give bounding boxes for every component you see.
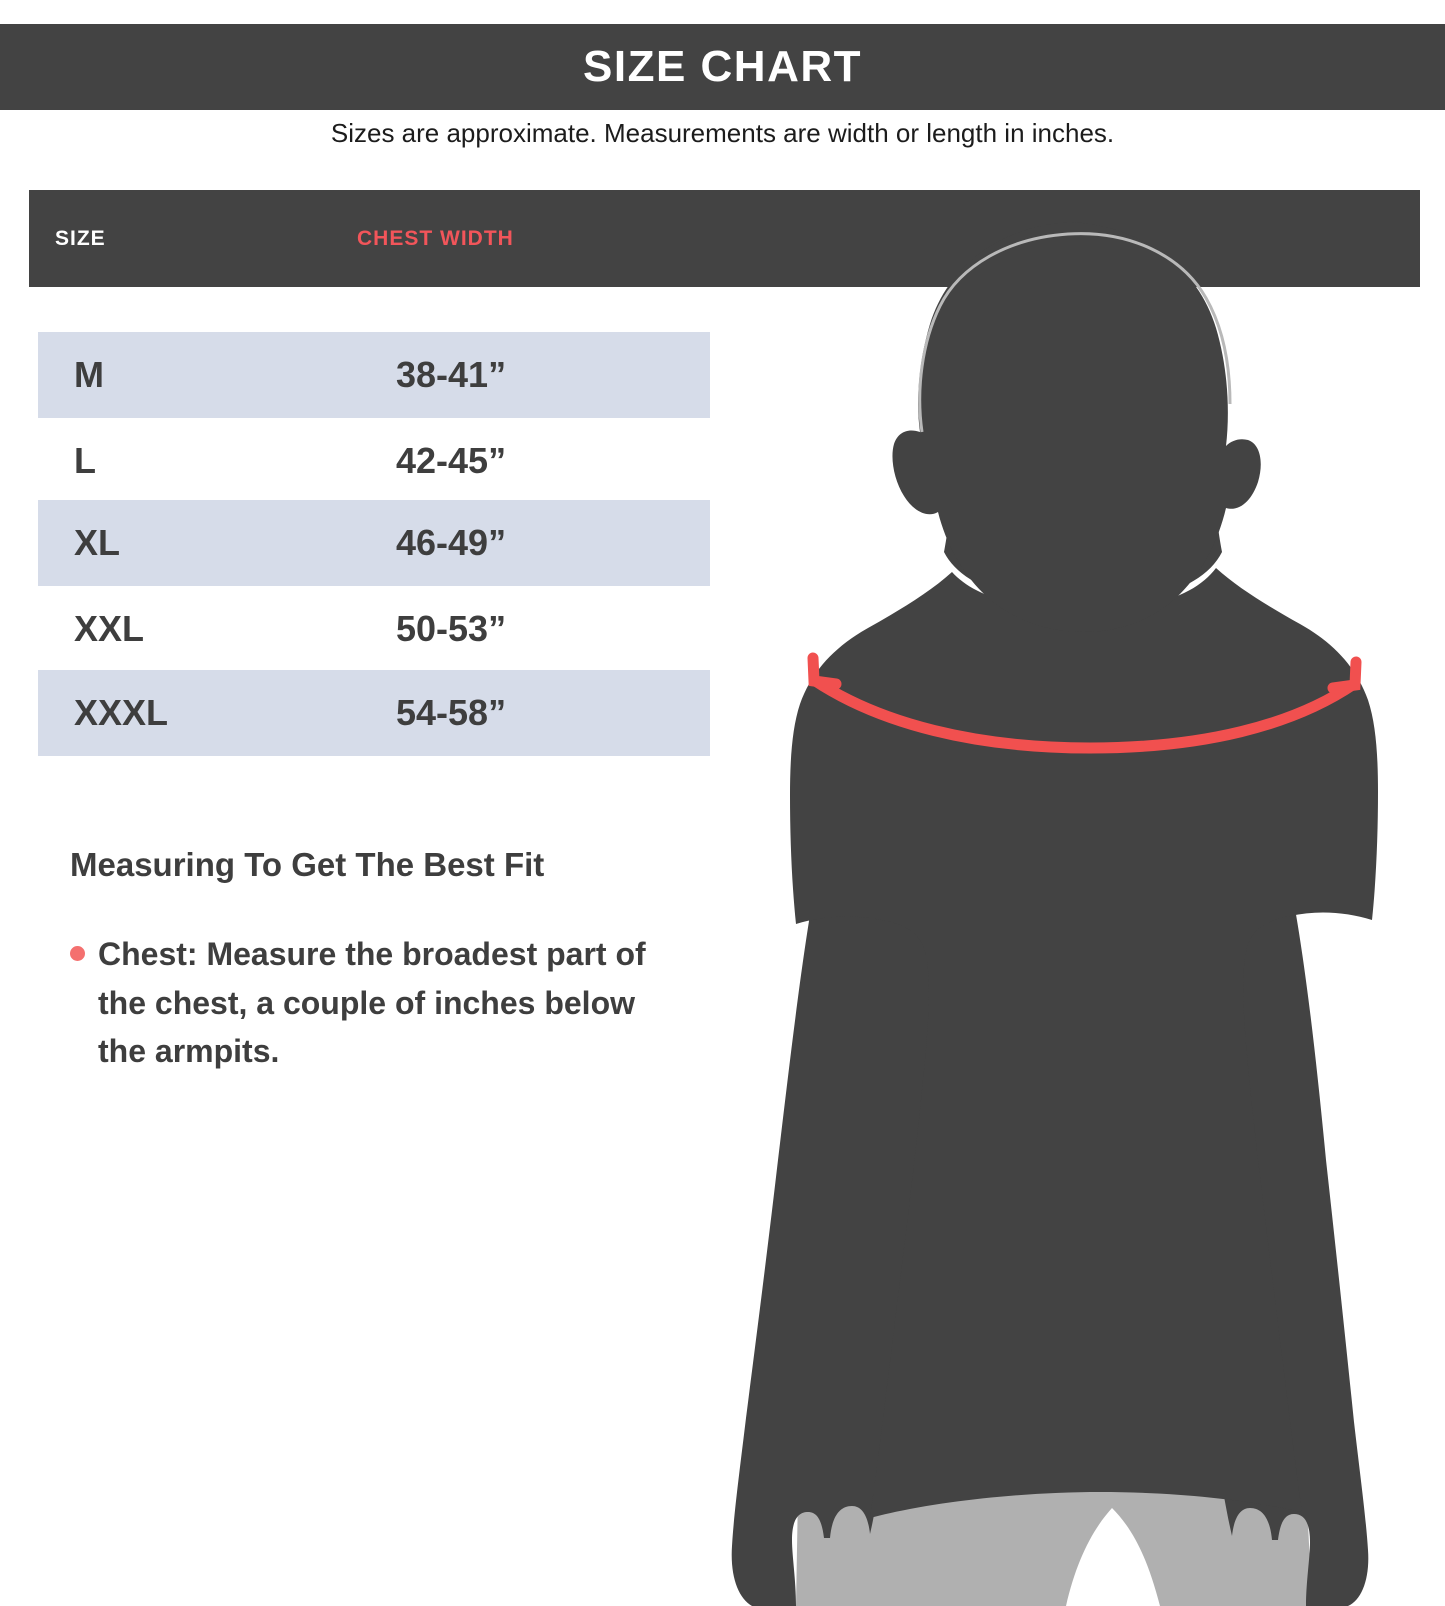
male-silhouette-figure	[600, 200, 1445, 1606]
cell-size: XL	[74, 522, 120, 564]
cell-size: M	[74, 354, 104, 396]
cell-chest: 46-49”	[396, 522, 506, 564]
bullet-icon	[70, 946, 85, 961]
column-header-chest: CHEST WIDTH	[357, 227, 514, 251]
cell-size: XXXL	[74, 692, 168, 734]
cell-size: XXL	[74, 608, 144, 650]
cell-chest: 42-45”	[396, 440, 506, 482]
cell-chest: 54-58”	[396, 692, 506, 734]
guide-heading: Measuring To Get The Best Fit	[70, 846, 690, 884]
cell-size: L	[74, 440, 96, 482]
column-header-size: SIZE	[55, 227, 106, 251]
cell-chest: 50-53”	[396, 608, 506, 650]
cell-chest: 38-41”	[396, 354, 506, 396]
guide-item-text: Chest: Measure the broadest part of the …	[98, 936, 646, 1069]
size-chart-page: M 38-41” L 42-45” XL 46-49” XXL 50-53” X…	[0, 0, 1445, 1606]
guide-item-chest: Chest: Measure the broadest part of the …	[70, 930, 690, 1076]
measuring-guide: Measuring To Get The Best Fit Chest: Mea…	[70, 846, 690, 1076]
